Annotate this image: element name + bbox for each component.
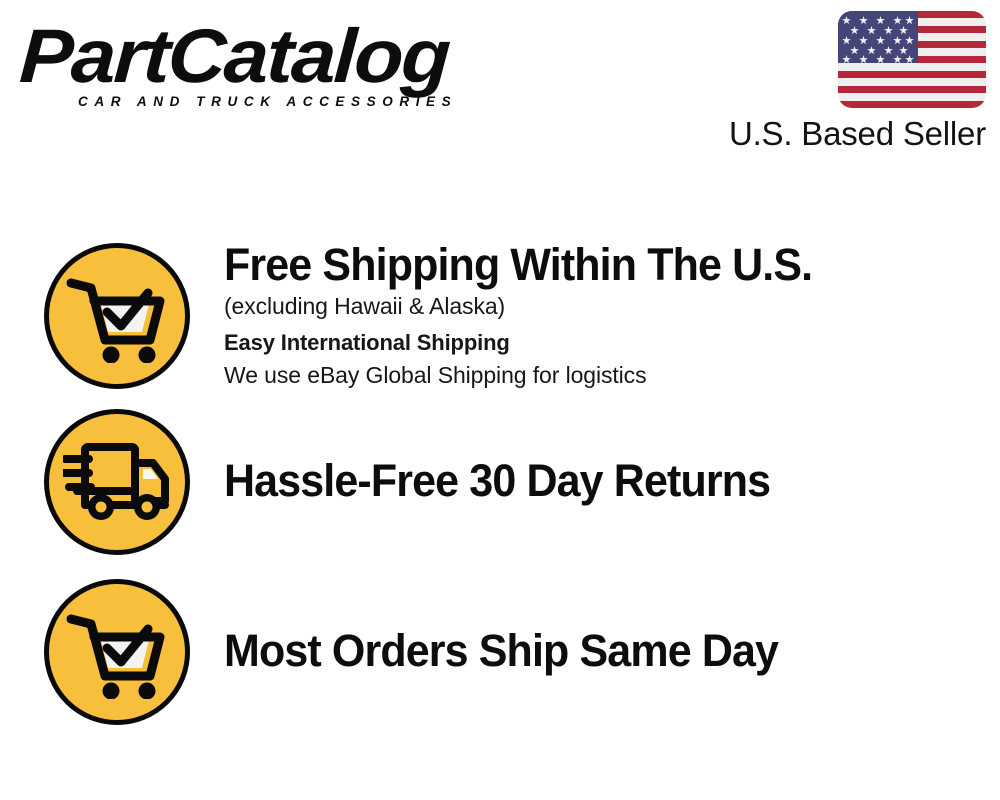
flag-stripe	[838, 86, 986, 93]
feature-row: Most Orders Ship Same Day	[0, 577, 1000, 727]
feature-row: Free Shipping Within The U.S. (excluding…	[0, 236, 1000, 396]
logo-wordmark: PartCatalog	[18, 18, 451, 96]
flag-canton	[838, 11, 918, 63]
shopping-cart-check-icon	[44, 579, 190, 725]
us-flag-graphic	[838, 11, 986, 108]
feature-text-block: Free Shipping Within The U.S. (excluding…	[224, 240, 1000, 393]
feature-headline: Hassle-Free 30 Day Returns	[224, 456, 965, 506]
flag-stripe	[838, 71, 986, 78]
feature-text-block: Hassle-Free 30 Day Returns	[224, 456, 1000, 508]
feature-headline: Most Orders Ship Same Day	[224, 626, 965, 676]
us-based-seller-label: U.S. Based Seller	[729, 115, 986, 153]
feature-subline: We use eBay Global Shipping for logistic…	[224, 359, 1000, 391]
feature-headline: Free Shipping Within The U.S.	[224, 240, 965, 290]
us-flag-icon	[838, 11, 986, 108]
shopping-cart-check-icon	[44, 243, 190, 389]
feature-subline-bold: Easy International Shipping	[224, 326, 1000, 359]
page-header: PartCatalog CAR AND TRUCK ACCESSORIES	[0, 0, 1000, 170]
feature-subline: (excluding Hawaii & Alaska)	[224, 290, 1000, 322]
feature-row: Hassle-Free 30 Day Returns	[0, 407, 1000, 557]
brand-logo[interactable]: PartCatalog CAR AND TRUCK ACCESSORIES	[22, 18, 492, 116]
logo-tagline: CAR AND TRUCK ACCESSORIES	[78, 94, 457, 109]
delivery-truck-icon	[44, 409, 190, 555]
feature-text-block: Most Orders Ship Same Day	[224, 626, 1000, 678]
flag-stripe	[838, 101, 986, 108]
